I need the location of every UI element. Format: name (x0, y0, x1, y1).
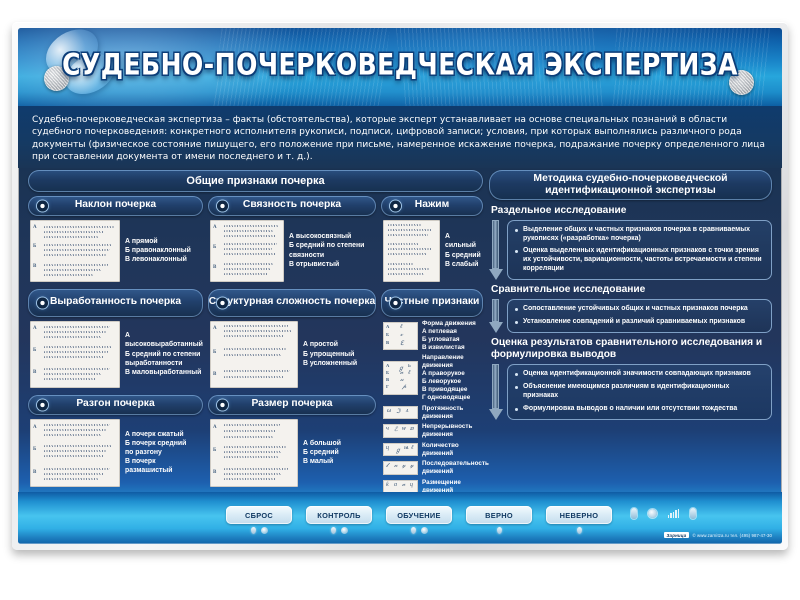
option-item: А прямой (125, 237, 191, 246)
list-item: чℰѡᴂ Непрерывность движения (383, 423, 481, 439)
sample-label: А (33, 225, 37, 230)
card-body: А Б В А высокосвязный Б средний по степе… (208, 216, 376, 282)
sample-label: Б (386, 370, 389, 375)
led-indicator-icon (37, 399, 48, 410)
option-item: А большой (303, 439, 341, 448)
card-title: Структурная сложность почерка (209, 297, 376, 308)
sample-label: А (386, 324, 389, 329)
led-round-icon (341, 527, 348, 534)
feature-card-slant[interactable]: Наклон почерка А Б В (28, 196, 203, 282)
group-heading: Количество движений (422, 442, 481, 458)
feature-card-complexity[interactable]: Структурная сложность почерка А Б В (208, 289, 376, 388)
sample-label: В (33, 370, 36, 375)
control-bar: СБРОС КОНТРОЛЬ ОБУЧЕНИЕ (18, 492, 782, 544)
glyph-sample-image: 𝓁𝓊𝓎𝓎 (383, 461, 418, 475)
led-indicator-icon (37, 200, 48, 211)
sample-label: А (33, 326, 37, 331)
led-indicator-icon (37, 297, 48, 308)
led-small-icon (577, 527, 582, 534)
feature-card-connectivity[interactable]: Связность почерка А Б В (208, 196, 376, 282)
card-body: А Б В А простой Б у (208, 317, 376, 388)
content-columns: Общие признаки почерка Наклон почерка А (18, 168, 782, 498)
feature-card-size[interactable]: Размер почерка А Б В (208, 395, 376, 487)
feature-row: Выработанность почерка А Б В (28, 289, 376, 392)
option-list: А сильный Б средний В слабый (445, 232, 481, 269)
arrow-down-icon (489, 364, 503, 420)
led-small-icon (331, 527, 336, 534)
stage-label-comparative-study: Сравнительное исследование (491, 284, 772, 296)
option-item: В малый (303, 457, 341, 466)
led-indicator-icon (217, 200, 228, 211)
option-list: А высокосвязный Б средний по степени свя… (289, 232, 364, 269)
private-features-panel: Частные признаки А ℓ Б 𝓍 В ℇ (381, 289, 483, 498)
option-item: А высокосвязный (289, 232, 364, 241)
option-item: Б упрощенный (303, 350, 357, 359)
sample-label: Б (33, 348, 36, 353)
led-round-icon (421, 527, 428, 534)
group-text: Непрерывность движения (422, 423, 481, 439)
handwriting-sample-image: А Б В (210, 321, 298, 388)
group-item: А петлевая (422, 328, 476, 336)
feature-row: Разгон почерка А Б В (28, 395, 376, 491)
list-item: А ℓ Б 𝓍 В ℇ Форма движения А петлевая (383, 320, 481, 352)
card-body: А Б В А почерк сжатый (28, 415, 203, 487)
stage-bullets: Выделение общих и частных признаков поче… (507, 220, 772, 281)
option-item: В слабый (445, 260, 481, 269)
option-item: А сильный (445, 232, 481, 250)
option-item: по разгону (125, 448, 201, 457)
brand-row: Зарница © www.zarnitza.ru тел. (495) 987… (664, 532, 772, 538)
sample-label: В (33, 470, 36, 475)
group-text: Форма движения А петлевая Б угловатая В … (422, 320, 476, 352)
section-title-methodology: Методика судебно-почерковедческой иденти… (489, 170, 772, 200)
button-control[interactable]: КОНТРОЛЬ (306, 496, 372, 534)
led-indicator-icon (390, 200, 401, 211)
card-title: Размер почерка (251, 399, 332, 410)
arrow-down-icon (489, 299, 503, 333)
led-small-icon (251, 527, 256, 534)
button-leds (306, 527, 372, 534)
handwriting-sample-image: А Б В (210, 220, 284, 282)
feature-group-left: Выработанность почерка А Б В (28, 289, 376, 498)
option-list: А прямой Б правонаклонный В левонаклонны… (125, 237, 191, 265)
group-heading: Форма движения (422, 320, 476, 328)
card-header[interactable]: Разгон почерка (28, 395, 203, 415)
button-label[interactable]: НЕВЕРНО (546, 506, 612, 524)
page-title: СУДЕБНО-ПОЧЕРКОВЕДЧЕСКАЯ ЭКСПЕРТИЗА (18, 47, 782, 81)
option-item: Б средний (445, 251, 481, 260)
list-item: ωℑᴧ Протяжность движения (383, 405, 481, 421)
option-item: Б правонаклонный (125, 246, 191, 255)
card-body: А сильный Б средний В слабый (381, 216, 483, 282)
card-title: Связность почерка (243, 200, 341, 211)
option-item: выработанности (125, 359, 203, 368)
copyright-text: © www.zarnitza.ru тел. (495) 987-47-30 (692, 533, 772, 538)
glyph-sample-image: цℊѩℓ (383, 443, 418, 456)
private-features-list: А ℓ Б 𝓍 В ℇ Форма движения А петлевая (381, 317, 483, 495)
glyph-sample-image: А ℓ Б 𝓍 В ℇ (383, 322, 418, 350)
list-item: 𝓁𝓊𝓎𝓎 Последовательность движений (383, 460, 481, 476)
feature-card-spread[interactable]: Разгон почерка А Б В (28, 395, 203, 487)
group-text: Последовательность движений (422, 460, 489, 476)
group-text: Направление движения А праворукое Б лево… (422, 354, 481, 402)
button-leds (546, 527, 612, 534)
sample-label: А (213, 225, 217, 230)
sample-label: В (213, 470, 216, 475)
intro-paragraph: Судебно-почерковедческая экспертиза – фа… (32, 114, 768, 164)
card-body: А Б В А прямой Б правонаклонный В левон (28, 216, 203, 282)
card-body: А Б В А высоковыработанный (28, 317, 203, 388)
bullet-item: Формулировка выводов о наличии или отсут… (514, 405, 764, 414)
bullet-item: Выделение общих и частных признаков поче… (514, 226, 764, 244)
stage-label-separate-study: Раздельное исследование (491, 205, 772, 217)
led-indicator-icon (217, 399, 228, 410)
handwriting-sample-image: А Б В (30, 220, 120, 282)
option-item: В маловыработанный (125, 368, 203, 377)
handwriting-sample-image: А Б В (210, 419, 298, 487)
stage-block: Сопоставление устойчивых общих и частных… (489, 299, 772, 333)
option-item: Б средний по степени (289, 241, 364, 250)
sample-label: В (213, 372, 216, 377)
glyph-sample-image: ωℑᴧ (383, 406, 418, 419)
bullet-item: Оценка идентификационной значимости совп… (514, 370, 764, 379)
button-label[interactable]: ВЕРНО (466, 506, 532, 524)
button-incorrect[interactable]: НЕВЕРНО (546, 496, 612, 534)
card-title: Разгон почерка (76, 399, 154, 410)
card-title: Нажим (415, 200, 449, 211)
board-surface: СУДЕБНО-ПОЧЕРКОВЕДЧЕСКАЯ ЭКСПЕРТИЗА Суде… (18, 28, 782, 544)
option-list: А почерк сжатый Б почерк средний по разг… (125, 430, 201, 476)
sample-label: Б (386, 332, 389, 337)
bullet-item: Установление совпадений и различий сравн… (514, 318, 764, 327)
indicator-lamp-icon (690, 508, 696, 519)
group-heading: Протяжность движения (422, 405, 481, 421)
card-header[interactable]: Структурная сложность почерка (208, 289, 376, 317)
stage-bullets: Оценка идентификационной значимости совп… (507, 364, 772, 420)
led-round-icon (261, 527, 268, 534)
bullet-item: Сопоставление устойчивых общих и частных… (514, 305, 764, 314)
option-item: В левонаклонный (125, 255, 191, 264)
glyph-sample-image: чℰѡᴂ (383, 424, 418, 438)
led-small-icon (411, 527, 416, 534)
list-item: А ℊь Б 𝒶ℓ В 𝓃 Г 𝓅 Н (383, 354, 481, 402)
card-header[interactable]: Связность почерка (208, 196, 376, 216)
button-leds (226, 527, 292, 534)
brand-logo: Зарница (664, 532, 690, 538)
bullet-item: Объяснение имеющимся различиям в идентиф… (514, 383, 764, 401)
sample-label: Б (213, 350, 216, 355)
sample-label: А (386, 363, 389, 368)
handwriting-sample-image: А Б В (30, 419, 120, 487)
sample-label: А (213, 425, 217, 430)
button-leds (466, 527, 532, 534)
sample-label: А (33, 425, 37, 430)
methodology-panel: Методика судебно-почерковедческой иденти… (489, 170, 772, 498)
sample-label: Б (213, 245, 216, 250)
sample-label: В (386, 377, 389, 382)
stage-block: Оценка идентификационной значимости совп… (489, 364, 772, 420)
card-header[interactable]: Выработанность почерка (28, 289, 203, 317)
bullet-item: Оценка выделенных идентификационных приз… (514, 247, 764, 274)
group-item: А праворукое (422, 370, 481, 378)
sample-label: А (213, 326, 217, 331)
option-item: Б средний по степени (125, 350, 203, 359)
sample-label: В (386, 340, 389, 345)
option-list: А простой Б упрощенный В усложненный (303, 340, 357, 368)
section-title-general-features: Общие признаки почерка (28, 170, 483, 192)
sample-label: В (33, 264, 36, 269)
handwriting-sample-image: А Б В (30, 321, 120, 388)
stage-label-evaluation: Оценка результатов сравнительного исслед… (491, 337, 772, 361)
group-text: Количество движений (422, 442, 481, 458)
group-heading: Последовательность движений (422, 460, 489, 476)
option-item: Б средний (303, 448, 341, 457)
card-title: Выработанность почерка (50, 297, 181, 308)
card-header[interactable]: Размер почерка (208, 395, 376, 415)
card-header[interactable]: Наклон почерка (28, 196, 203, 216)
feature-card-skill[interactable]: Выработанность почерка А Б В (28, 289, 203, 388)
general-features-panel: Общие признаки почерка Наклон почерка А (28, 170, 483, 498)
header-banner: СУДЕБНО-ПОЧЕРКОВЕДЧЕСКАЯ ЭКСПЕРТИЗА (18, 28, 782, 106)
group-item: Б угловатая (422, 336, 476, 344)
card-body: А Б В А большой Б с (208, 415, 376, 487)
option-item: Б почерк средний (125, 439, 201, 448)
led-indicator-icon (390, 297, 401, 308)
card-title: Наклон почерка (75, 200, 156, 211)
handwriting-sample-image (383, 220, 440, 282)
option-item: В усложненный (303, 359, 357, 368)
sample-label: Б (33, 447, 36, 452)
intro-block: Судебно-почерковедческая экспертиза – фа… (18, 106, 782, 168)
button-label[interactable]: СБРОС (226, 506, 292, 524)
card-header[interactable]: Нажим (381, 196, 483, 216)
group-item: В приводящее (422, 386, 481, 394)
group-text: Протяжность движения (422, 405, 481, 421)
stage-bullets: Сопоставление устойчивых общих и частных… (507, 299, 772, 333)
stage-block: Выделение общих и частных признаков поче… (489, 220, 772, 281)
button-correct[interactable]: ВЕРНО (466, 496, 532, 534)
card-header-private-features[interactable]: Частные признаки (381, 289, 483, 317)
signal-bars-icon (668, 509, 680, 518)
sample-label: Г (386, 384, 389, 389)
group-item: Г одноводящее (422, 394, 481, 402)
option-item: В отрывистый (289, 260, 364, 269)
option-item: А почерк сжатый (125, 430, 201, 439)
option-item: В почерк размашистый (125, 457, 201, 475)
status-indicators (631, 508, 697, 519)
sample-label: Б (33, 244, 36, 249)
option-item: А высоковыработанный (125, 331, 203, 349)
feature-row: Выработанность почерка А Б В (28, 289, 483, 498)
glyph-sample-image: А ℊь Б 𝒶ℓ В 𝓃 Г 𝓅 (383, 361, 418, 395)
option-item: связности (289, 251, 364, 260)
led-indicator-icon (217, 297, 228, 308)
button-reset[interactable]: СБРОС (226, 496, 292, 534)
option-item: А простой (303, 340, 357, 349)
button-label[interactable]: ОБУЧЕНИЕ (386, 506, 452, 524)
arrow-down-icon (489, 220, 503, 281)
feature-row: Наклон почерка А Б В (28, 196, 483, 286)
sample-label: Б (213, 448, 216, 453)
indicator-lamp-icon (631, 508, 637, 519)
dial-knob-icon[interactable] (648, 509, 657, 518)
list-item: цℊѩℓ Количество движений (383, 442, 481, 458)
feature-card-pressure[interactable]: Нажим А сильный Б средний В сл (381, 196, 483, 282)
group-heading: Непрерывность движения (422, 423, 481, 439)
option-list: А высоковыработанный Б средний по степен… (125, 331, 203, 377)
button-training[interactable]: ОБУЧЕНИЕ (386, 496, 452, 534)
group-item: Б леворукое (422, 378, 481, 386)
option-list: А большой Б средний В малый (303, 439, 341, 467)
group-item: В извилистая (422, 344, 476, 352)
group-heading: Направление движения (422, 354, 481, 370)
button-leds (386, 527, 452, 534)
led-small-icon (497, 527, 502, 534)
sample-label: В (213, 265, 216, 270)
button-label[interactable]: КОНТРОЛЬ (306, 506, 372, 524)
board-frame: СУДЕБНО-ПОЧЕРКОВЕДЧЕСКАЯ ЭКСПЕРТИЗА Суде… (12, 22, 788, 550)
